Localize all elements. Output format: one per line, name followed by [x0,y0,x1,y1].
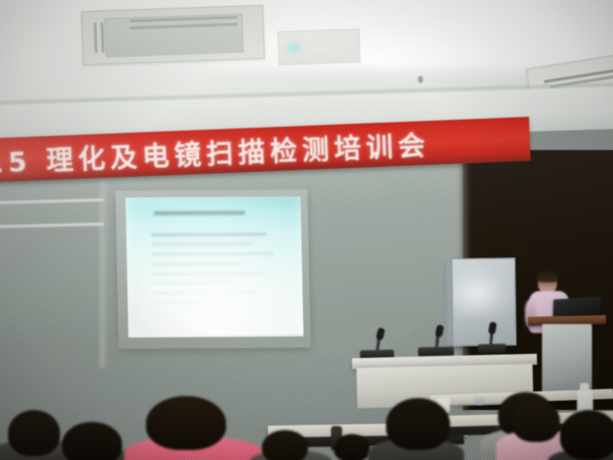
attendee-head [146,396,226,450]
water-bottle-cap [580,383,589,392]
paper-cup [474,396,486,405]
attendee-head [262,430,308,460]
projection-screen [126,197,304,338]
fire-sprinkler [418,76,423,83]
attendee-head [334,434,370,460]
attendee-head [560,410,613,460]
attendee-head [512,400,560,442]
attendee-head [8,410,60,456]
conference-room-photo: 15 理化及电镜扫描检测培训会 [0,0,613,460]
ac-cassette-slit [93,23,97,52]
screen-overexposure-glow [126,197,304,338]
ceiling-ac-cassette [81,5,265,65]
wall-panel-edge [100,178,108,368]
presenter-hair [537,271,558,282]
whiteboard [451,258,516,347]
attendee-head [386,398,450,450]
attendee-head [62,422,122,460]
ceiling-green-glow [286,42,302,54]
